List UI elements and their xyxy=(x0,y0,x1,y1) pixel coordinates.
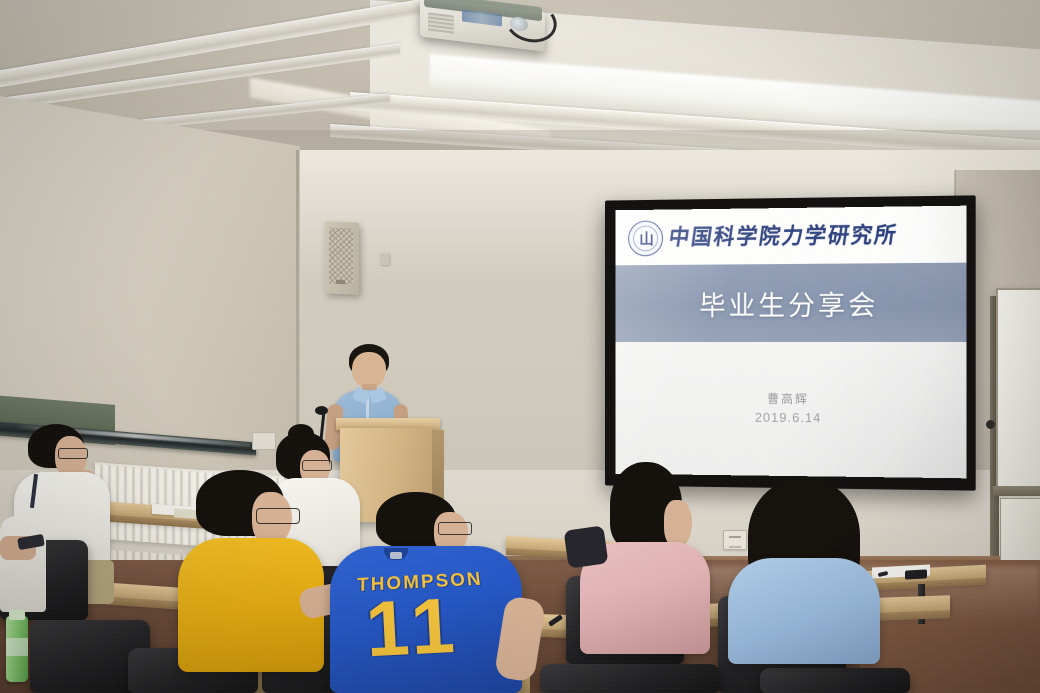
slide-header: 山 中国科学院力学研究所 xyxy=(616,206,967,266)
projector-vent xyxy=(428,12,454,34)
mobile-phone xyxy=(905,569,927,579)
jersey-number: 11 xyxy=(336,584,490,670)
institution-name: 中国科学院力学研究所 xyxy=(666,214,921,257)
glasses-icon xyxy=(302,460,332,471)
audience-light-blue-top xyxy=(728,558,880,664)
bag xyxy=(564,525,609,568)
nba-logo-icon xyxy=(390,552,402,559)
classroom-photo: 山 中国科学院力学研究所 毕业生分享会 曹高辉 2019.6.14 xyxy=(0,0,1040,693)
whiteboard-knob xyxy=(986,420,995,429)
projection-screen: 山 中国科学院力学研究所 毕业生分享会 曹高辉 2019.6.14 xyxy=(616,206,967,479)
logo-glyph: 山 xyxy=(639,232,652,247)
glasses-icon xyxy=(58,448,88,459)
audience-blue-jersey: THOMPSON 11 xyxy=(330,546,522,693)
slide-author: 曹高辉 xyxy=(616,389,967,408)
wall-outlet xyxy=(723,530,747,550)
speaker-grille-icon xyxy=(329,227,353,284)
speaker-badge xyxy=(336,280,345,284)
microphone-head-icon xyxy=(315,406,328,415)
bottle-label xyxy=(6,638,28,656)
hair-bun xyxy=(288,424,314,444)
wall-outlet xyxy=(252,432,276,450)
wall-sensor xyxy=(380,253,389,265)
chair xyxy=(540,664,720,693)
whiteboard xyxy=(996,288,1040,492)
institute-logo-icon: 山 xyxy=(628,220,663,256)
bottle-cap xyxy=(9,610,25,620)
slide-date: 2019.6.14 xyxy=(616,409,967,427)
glasses-icon xyxy=(438,522,472,535)
glasses-icon xyxy=(256,508,300,524)
whiteboard-tray xyxy=(993,486,1040,496)
presenter-head xyxy=(352,352,386,388)
presentation-slide: 山 中国科学院力学研究所 毕业生分享会 曹高辉 2019.6.14 xyxy=(616,206,967,479)
audience-partial xyxy=(0,516,46,612)
chair xyxy=(760,668,910,693)
slide-title: 毕业生分享会 xyxy=(616,263,967,342)
